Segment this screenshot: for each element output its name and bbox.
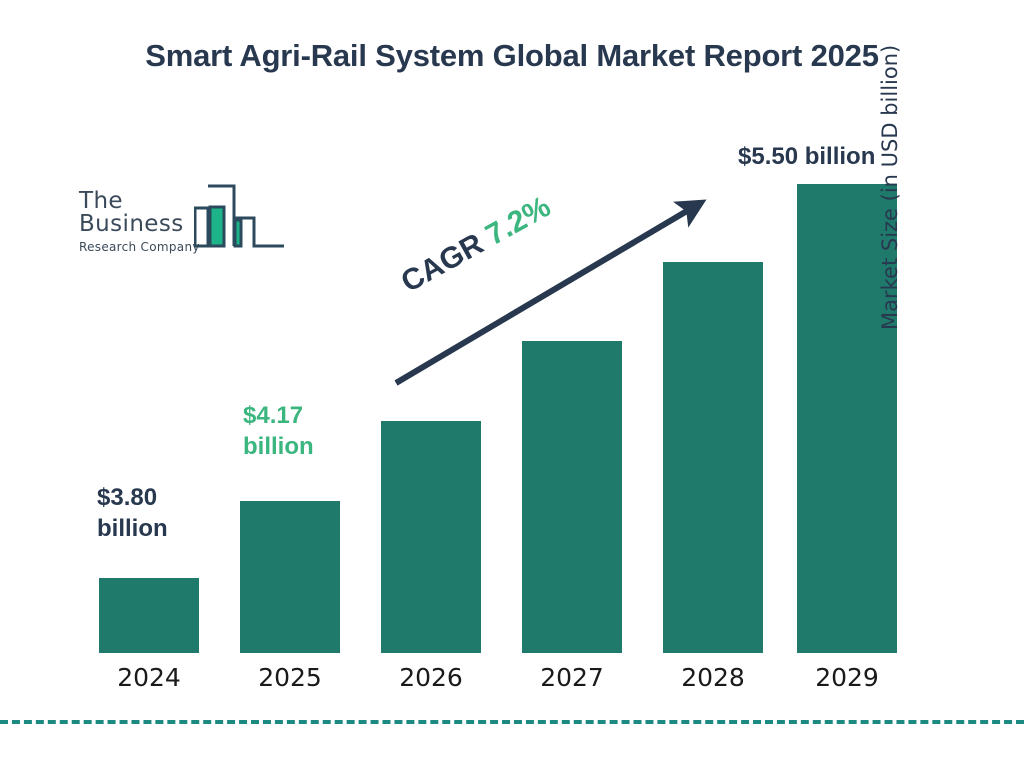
xtick-2025: 2025 <box>230 663 350 692</box>
value-label-2025: $4.17 billion <box>243 401 363 462</box>
value-label-2024: $3.80 billion <box>97 483 207 544</box>
xtick-2024: 2024 <box>89 663 209 692</box>
bar-2026 <box>381 421 481 653</box>
bar-2024 <box>99 578 199 653</box>
xtick-2026: 2026 <box>371 663 491 692</box>
y-axis-title: Market Size (in USD billion) <box>878 0 902 330</box>
bottom-divider <box>0 720 1024 724</box>
xtick-2029: 2029 <box>787 663 907 692</box>
xtick-2027: 2027 <box>512 663 632 692</box>
value-label-2029: $5.50 billion <box>738 142 958 173</box>
bar-2025 <box>240 501 340 653</box>
chart-canvas: Smart Agri-Rail System Global Market Rep… <box>0 0 1024 768</box>
xtick-2028: 2028 <box>653 663 773 692</box>
